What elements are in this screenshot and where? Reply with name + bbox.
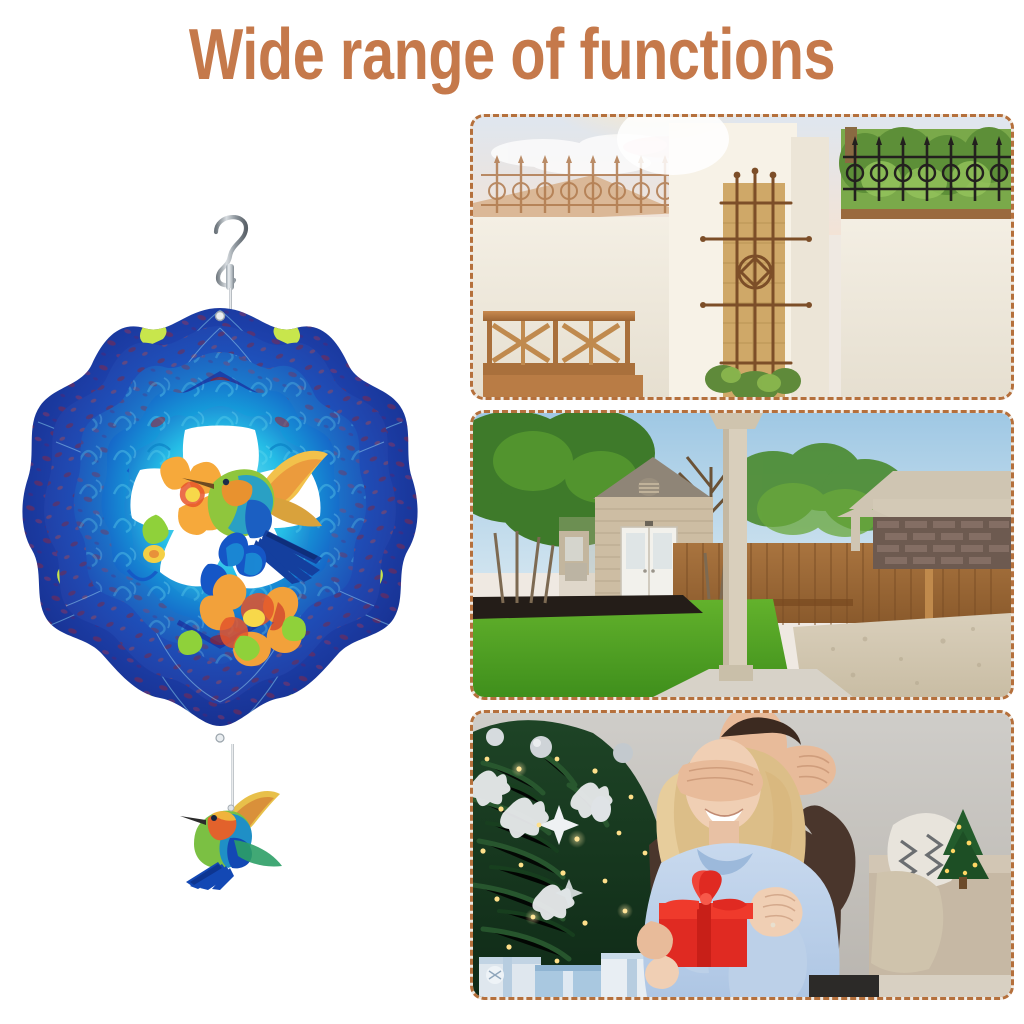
photo-patio-trellis[interactable] <box>470 114 1014 400</box>
photo-backyard-shed[interactable] <box>470 410 1014 700</box>
photo-gallery <box>470 114 1014 1000</box>
product-image <box>0 96 460 976</box>
hanging-hummingbird-charm <box>178 786 298 892</box>
swivel-connector <box>226 264 234 290</box>
wind-spinner-disc <box>8 302 432 750</box>
photo-christmas-gift[interactable] <box>470 710 1014 1000</box>
page-title: Wide range of functions <box>102 16 921 94</box>
